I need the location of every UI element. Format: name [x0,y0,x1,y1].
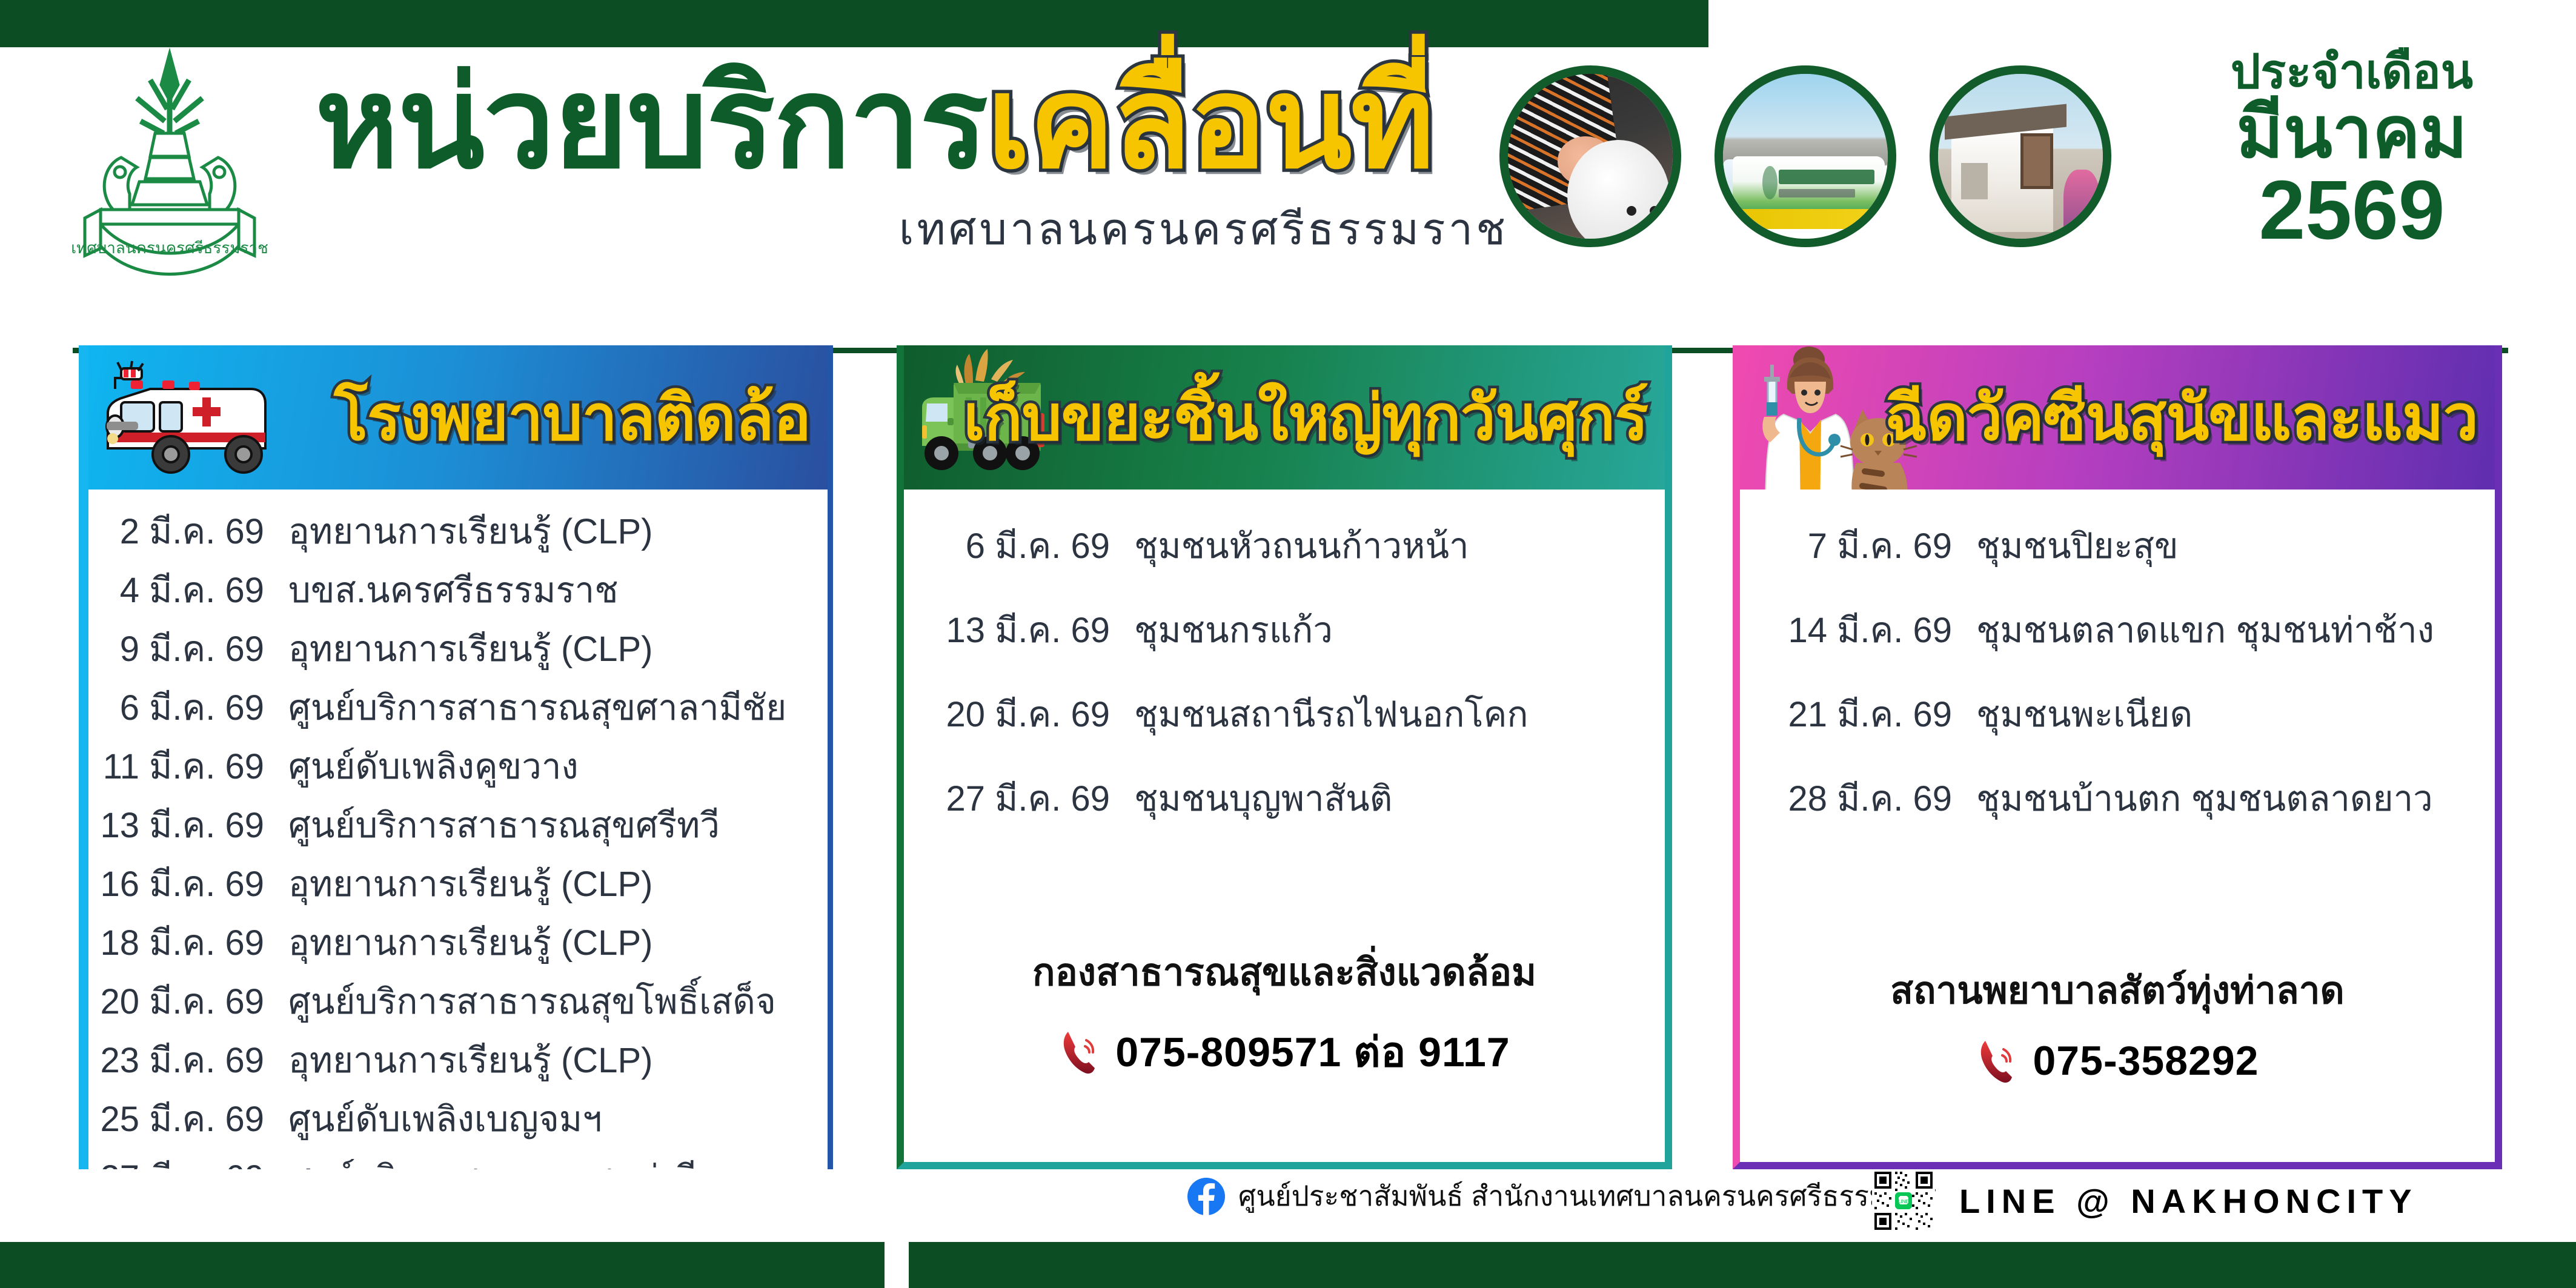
row-date: 11 มี.ค. 69 [88,738,288,794]
card3-phone-number[interactable]: 075-358292 [2033,1037,2259,1084]
row-place: ชุมชนปิยะสุข [1976,517,2179,574]
row-date: 21 มี.ค. 69 [1740,686,1976,742]
card-pet-vaccination: ฉีดวัคซีนสุนัขและแมว 7 มี.ค. 69ชุมชนปิยะ… [1733,345,2502,1169]
row-place: ชุมชนบุญพาสันติ [1134,770,1392,826]
row-date: 13 มี.ค. 69 [904,602,1134,658]
table-row: 7 มี.ค. 69ชุมชนปิยะสุข [1740,517,2495,574]
month-label: ประจำเดือน [2164,47,2540,97]
row-date: 23 มี.ค. 69 [88,1032,288,1088]
card2-title: เก็บขยะชิ้นใหญ่ทุกวันศุกร์ [963,368,1648,468]
title-green-part: หน่วยบริการ [315,51,987,194]
title-block: หน่วยบริการเคลื่อนที่ เทศบาลนครนครศรีธรร… [315,59,1515,264]
card-hospital-on-wheels: โรงพยาบาลติดล้อ 2 มี.ค. 69อุทยานการเรียน… [79,345,833,1169]
card3-title: ฉีดวัคซีนสุนัขและแมว [1885,368,2478,468]
row-date: 13 มี.ค. 69 [88,797,288,853]
row-place: ชุมชนบ้านตก ชุมชนตลาดยาว [1976,770,2433,826]
card3-body: 7 มี.ค. 69ชุมชนปิยะสุข 14 มี.ค. 69ชุมชนต… [1740,490,2495,826]
card1-title: โรงพยาบาลติดล้อ [334,368,811,468]
table-row: 27 มี.ค. 69ชุมชนบุญพาสันติ [904,770,1665,826]
row-place: ศูนย์ดับเพลิงคูขวาง [288,738,579,794]
table-row: 9 มี.ค. 69อุทยานการเรียนรู้ (CLP) [88,620,828,677]
table-row: 2 มี.ค. 69อุทยานการเรียนรู้ (CLP) [88,503,828,559]
card1-body: 2 มี.ค. 69อุทยานการเรียนรู้ (CLP) 4 มี.ค… [88,490,828,1288]
row-date: 20 มี.ค. 69 [88,973,288,1029]
table-row: 16 มี.ค. 69อุทยานการเรียนรู้ (CLP) [88,855,828,912]
row-date: 4 มี.ค. 69 [88,562,288,618]
table-row: 20 มี.ค. 69ชุมชนสถานีรถไฟนอกโคก [904,686,1665,742]
table-row: 13 มี.ค. 69ศูนย์บริการสาธารณสุขศรีทวี [88,797,828,853]
card3-department: สถานพยาบาลสัตว์ทุ่งท่าลาด [1740,961,2495,1020]
card1-header: โรงพยาบาลติดล้อ [88,345,828,490]
table-row: 20 มี.ค. 69ศูนย์บริการสาธารณสุขโพธิ์เสด็… [88,973,828,1029]
card2-phone-line: 075-809571 ต่อ 9117 [904,1019,1665,1084]
row-date: 16 มี.ค. 69 [88,855,288,912]
row-date: 6 มี.ค. 69 [88,679,288,735]
row-place: ศูนย์ดับเพลิงเบญจมฯ [288,1090,602,1147]
row-place: ศูนย์บริการสาธารณสุขศาลามีชัย [288,679,786,735]
month-block: ประจำเดือน มีนาคม 2569 [2164,47,2540,252]
crest-caption: เทศบาลนครนครศรีธรรมราช [71,239,268,257]
year-number: 2569 [2164,168,2540,252]
row-place: ชุมชนกรแก้ว [1134,602,1333,658]
row-place: อุทยานการเรียนรู้ (CLP) [288,855,652,912]
header-photo-strip [1499,53,2136,271]
row-place: ชุมชนพะเนียด [1976,686,2193,742]
row-date: 28 มี.ค. 69 [1740,770,1976,826]
row-date: 2 มี.ค. 69 [88,503,288,559]
line-group[interactable]: LINE LINE @ NAKHONCITY [1872,1169,2418,1232]
svg-text:LINE: LINE [1898,1199,1909,1204]
row-date: 18 มี.ค. 69 [88,914,288,971]
card3-footer: สถานพยาบาลสัตว์ทุ่งท่าลาด 075-358292 [1740,961,2495,1084]
photo-person-with-dog [1499,65,1681,247]
qr-code-icon[interactable]: LINE [1872,1169,1935,1232]
photo-hospital-on-wheels-truck [1715,65,1896,247]
table-row: 14 มี.ค. 69ชุมชนตลาดแขก ชุมชนท่าช้าง [1740,602,2495,658]
title-yellow-part: เคลื่อนที่ [987,51,1433,194]
month-name: มีนาคม [2164,96,2540,171]
municipal-crest-logo: เทศบาลนครนครศรีธรรมราช [48,42,291,297]
card2-footer: กองสาธารณสุขและสิ่งแวดล้อม 075-809571 ต่… [904,943,1665,1084]
card-bulky-waste-collection: เก็บขยะชิ้นใหญ่ทุกวันศุกร์ 6 มี.ค. 69ชุม… [897,345,1672,1169]
line-account-name: LINE @ NAKHONCITY [1959,1181,2418,1221]
top-green-bar-left [0,0,1708,47]
card2-phone-number[interactable]: 075-809571 ต่อ 9117 [1115,1019,1510,1084]
table-row: 6 มี.ค. 69ชุมชนหัวถนนก้าวหน้า [904,517,1665,574]
table-row: 25 มี.ค. 69ศูนย์ดับเพลิงเบญจมฯ [88,1090,828,1147]
phone-icon [1058,1028,1102,1075]
row-date: 6 มี.ค. 69 [904,517,1134,574]
photo-community-house [1930,65,2111,247]
row-place: ชุมชนสถานีรถไฟนอกโคก [1134,686,1529,742]
row-date: 14 มี.ค. 69 [1740,602,1976,658]
row-place: ศูนย์บริการสาธารณสุขโพธิ์เสด็จ [288,973,776,1029]
row-place: อุทยานการเรียนรู้ (CLP) [288,620,652,677]
table-row: 21 มี.ค. 69ชุมชนพะเนียด [1740,686,2495,742]
ambulance-icon [95,342,294,493]
row-place: ชุมชนหัวถนนก้าวหน้า [1134,517,1469,574]
footer-green-bar-left [0,1242,885,1288]
row-place: อุทยานการเรียนรู้ (CLP) [288,1032,652,1088]
table-row: 23 มี.ค. 69อุทยานการเรียนรู้ (CLP) [88,1032,828,1088]
row-date: 9 มี.ค. 69 [88,620,288,677]
poster-footer: ศูนย์ประชาสัมพันธ์ สำนักงานเทศบาลนครนครศ… [0,1169,2576,1288]
row-place: ศูนย์บริการสาธารณสุขศรีทวี [288,797,720,853]
row-place: อุทยานการเรียนรู้ (CLP) [288,914,652,971]
row-place: บขส.นครศรีธรรมราช [288,562,619,618]
facebook-icon[interactable] [1187,1178,1225,1215]
table-row: 13 มี.ค. 69ชุมชนกรแก้ว [904,602,1665,658]
facebook-group[interactable]: ศูนย์ประชาสัมพันธ์ สำนักงานเทศบาลนครนครศ… [1187,1174,1937,1218]
row-place: ชุมชนตลาดแขก ชุมชนท่าช้าง [1976,602,2434,658]
row-date: 25 มี.ค. 69 [88,1090,288,1147]
table-row: 11 มี.ค. 69ศูนย์ดับเพลิงคูขวาง [88,738,828,794]
phone-icon [1976,1037,2019,1084]
top-white-gap-right [1950,0,2576,12]
cards-container: โรงพยาบาลติดล้อ 2 มี.ค. 69อุทยานการเรียน… [0,345,2576,1169]
table-row: 28 มี.ค. 69ชุมชนบ้านตก ชุมชนตลาดยาว [1740,770,2495,826]
poster-header: เทศบาลนครนครศรีธรรมราช หน่วยบริการเคลื่อ… [0,47,2576,308]
card3-phone-line: 075-358292 [1740,1037,2495,1084]
main-title: หน่วยบริการเคลื่อนที่ [315,59,1515,187]
footer-green-bar-right [909,1242,2576,1288]
poster-root: เทศบาลนครนครศรีธรรมราช หน่วยบริการเคลื่อ… [0,0,2576,1288]
card2-header: เก็บขยะชิ้นใหญ่ทุกวันศุกร์ [904,345,1665,490]
row-place: อุทยานการเรียนรู้ (CLP) [288,503,652,559]
row-date: 7 มี.ค. 69 [1740,517,1976,574]
table-row: 6 มี.ค. 69ศูนย์บริการสาธารณสุขศาลามีชัย [88,679,828,735]
row-date: 20 มี.ค. 69 [904,686,1134,742]
facebook-page-name: ศูนย์ประชาสัมพันธ์ สำนักงานเทศบาลนครนครศ… [1238,1174,1937,1218]
card3-header: ฉีดวัคซีนสุนัขและแมว [1740,345,2495,490]
table-row: 4 มี.ค. 69บขส.นครศรีธรรมราช [88,562,828,618]
row-date: 27 มี.ค. 69 [904,770,1134,826]
table-row: 18 มี.ค. 69อุทยานการเรียนรู้ (CLP) [88,914,828,971]
card2-department: กองสาธารณสุขและสิ่งแวดล้อม [904,943,1665,1002]
card2-body: 6 มี.ค. 69ชุมชนหัวถนนก้าวหน้า 13 มี.ค. 6… [904,490,1665,826]
header-subtitle: เทศบาลนครนครศรีธรรมราช [315,194,1515,264]
